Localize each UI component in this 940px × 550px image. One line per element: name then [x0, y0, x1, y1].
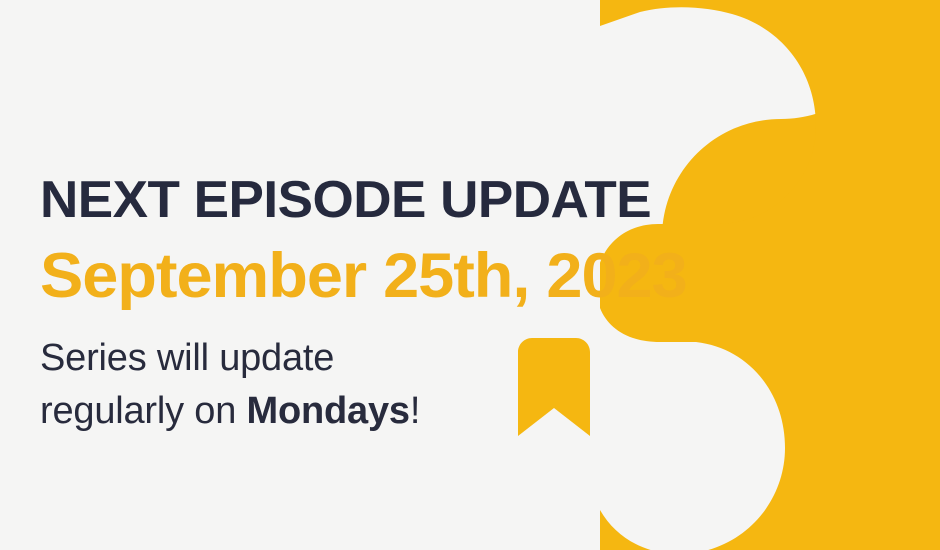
schedule-note-suffix: !	[410, 390, 420, 432]
schedule-note-line-1: Series will update	[40, 332, 510, 385]
schedule-note-day: Mondays	[247, 390, 410, 432]
bookmark-icon	[518, 338, 590, 436]
schedule-note: Series will update regularly on Mondays!	[40, 332, 510, 438]
schedule-note-prefix: regularly on	[40, 390, 247, 432]
next-episode-update-banner: NEXT EPISODE UPDATE September 25th, 2023…	[0, 0, 940, 550]
schedule-note-line-2: regularly on Mondays!	[40, 385, 510, 438]
episode-date: September 25th, 2023	[40, 240, 687, 312]
banner-content: NEXT EPISODE UPDATE September 25th, 2023…	[40, 0, 800, 550]
page-title: NEXT EPISODE UPDATE	[40, 172, 651, 228]
